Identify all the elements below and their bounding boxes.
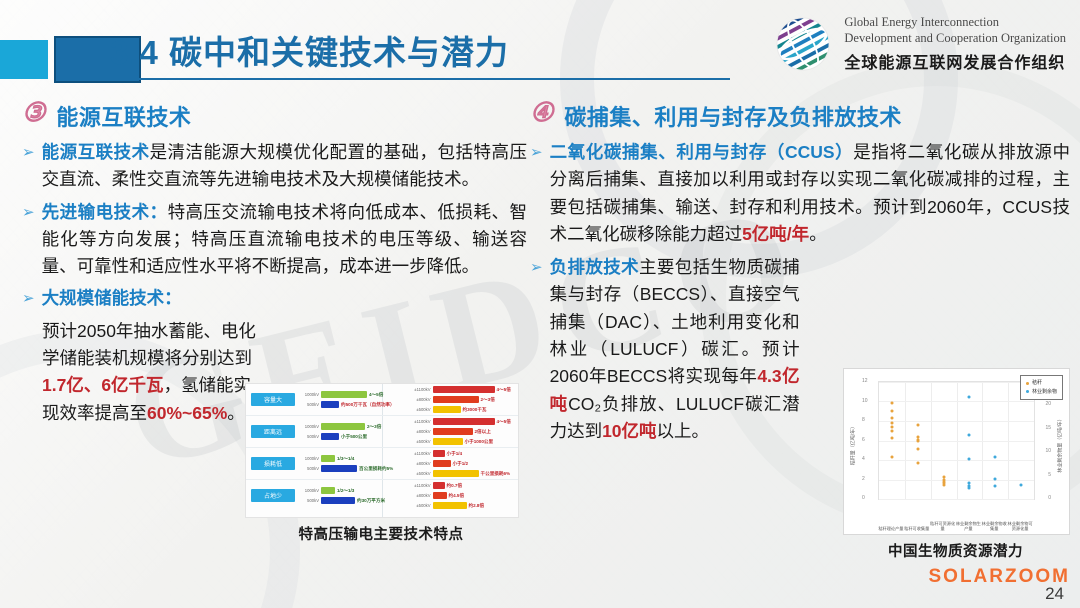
chart-y2-axis-label: 林业剩余物量（亿吨/年） [1057,410,1064,480]
chart-y-tick: 0 [862,495,865,501]
uhv-bar [321,401,339,408]
uhv-metric-line: ±800kV约4.5倍 [411,492,519,499]
logo-en-line1: Global Energy Interconnection [844,15,1066,31]
uhv-value-label: 千公里损耗6% [481,471,511,477]
slide-canvas: GEIDCO 3.4 碳中和关键技术与潜力 [0,0,1080,608]
chart-y-tick: 12 [862,378,868,384]
uhv-value-label: 约30万平方米 [357,498,385,504]
chart-legend-item: 秸秆 [1026,379,1057,388]
chart-x-label: 秸秆可收集量 [904,527,930,532]
chart-y-tick: 6 [862,437,865,443]
chart-data-point [890,402,893,405]
chart-data-point [890,410,893,413]
section-number-3: ③ [22,100,45,126]
uhv-voltage-label: ±800kV [411,397,431,402]
uhv-metric-line: ±1100kV约0.7倍 [411,482,519,489]
chart-gridline-horizontal [879,382,1034,383]
chart-gridline-horizontal [879,499,1034,500]
uhv-value-label: 小于1000公里 [465,439,494,445]
storage-detail-text: 预计2050年抽水蓄能、电化学储能装机规模将分别达到1.7亿、6亿千瓦，氢储能实… [42,318,257,427]
uhv-voltage-label: ±1100kV [411,387,431,392]
chart-data-point [890,421,893,424]
uhv-metric-line: ±800kV小于1/2 [411,460,519,467]
uhv-rows-container: 容量大1000kV4～5倍500kV约500万千瓦（自然功率）±1100kV4～… [246,384,518,511]
uhv-metric-line: ±500kV约2.8倍 [411,502,519,509]
uhv-value-label: 4～5倍 [497,419,511,425]
uhv-metric-line: ±1100kV4～5倍 [411,418,519,425]
uhv-bar [433,438,463,445]
legend-swatch-icon [1026,382,1029,385]
chart-data-point [916,440,919,443]
uhv-metric-line: ±500kV小于1000公里 [411,438,519,445]
uhv-voltage-label: 500kV [299,498,319,503]
uhv-row: 损耗低1000kV1/3～1/4500kV百公里损耗约5%±1100kV小于1/… [246,448,518,480]
uhv-bar [321,455,335,462]
chart-data-point [1020,484,1023,487]
uhv-row-label: 距离远 [251,425,295,438]
uhv-metric-line: 500kV百公里损耗约5% [299,465,407,472]
uhv-value-label: 小于1/4 [447,451,463,457]
uhv-metric-line: 500kV约500万千瓦（自然功率） [299,401,407,408]
chart-data-point [916,461,919,464]
uhv-metric-line: 1000kV2～3倍 [299,423,407,430]
chart-gridline-horizontal [879,480,1034,481]
list-item: ➢ 二氧化碳捕集、利用与封存（CCUS）是指将二氧化碳从排放源中分离后捕集、直接… [530,139,1070,248]
uhv-voltage-label: 500kV [299,434,319,439]
globe-logo-icon [772,13,834,75]
uhv-row: 占地少1000kV1/2～1/3500kV约30万平方米±1100kV约0.7倍… [246,480,518,511]
uhv-voltage-label: 500kV [299,466,319,471]
uhv-half-right: ±1100kV4～5倍±800kV2倍以上±500kV小于1000公里 [407,418,519,445]
uhv-bar [433,460,451,467]
uhv-half-left: 1000kV1/3～1/4500kV百公里损耗约5% [295,455,407,472]
list-item: ➢ 先进输电技术：特高压交流输电技术将向低成本、低损耗、智能化等方向发展；特高压… [22,199,527,281]
bullet-arrow-icon: ➢ [22,285,35,312]
uhv-value-label: 约0.7倍 [447,483,463,489]
uhv-voltage-label: ±500kV [411,407,431,412]
chart-data-point [890,417,893,420]
uhv-value-label: 2～3倍 [481,397,495,403]
chart-data-point [890,429,893,432]
uhv-voltage-label: 500kV [299,402,319,407]
uhv-voltage-label: ±500kV [411,439,431,444]
uhv-figure: 容量大1000kV4～5倍500kV约500万千瓦（自然功率）±1100kV4～… [245,383,517,544]
uhv-bar [321,497,355,504]
uhv-bar [321,487,335,494]
bullet-text: 大规模储能技术： [42,285,182,312]
logo-en-line2: Development and Cooperation Organization [844,31,1066,47]
uhv-metric-line: ±1100kV小于1/4 [411,450,519,457]
page-title: 3.4 碳中和关键技术与潜力 [110,26,509,74]
biomass-figure: 秸秆量（亿吨/年） 林业剩余物量（亿吨/年） 024681012 0510152… [843,368,1068,561]
chart-data-point [890,436,893,439]
uhv-metric-line: ±800kV2倍以上 [411,428,519,435]
uhv-metric-line: 500kV小于500公里 [299,433,407,440]
chart-legend-item: 林业剩余物 [1026,388,1057,397]
uhv-metric-line: 500kV约30万平方米 [299,497,407,504]
uhv-value-label: 约3000千瓦 [463,407,487,413]
uhv-value-label: 约4.5倍 [449,493,465,499]
uhv-voltage-label: 1000kV [299,424,319,429]
bullet-text: 先进输电技术：特高压交流输电技术将向低成本、低损耗、智能化等方向发展；特高压直流… [42,199,527,281]
uhv-half-left: 1000kV4～5倍500kV约500万千瓦（自然功率） [295,391,407,408]
uhv-value-label: 1/2～1/3 [337,488,354,494]
uhv-metric-line: ±500kV约3000千瓦 [411,406,519,413]
section-number-4: ④ [530,100,553,126]
uhv-half-left: 1000kV1/2～1/3500kV约30万平方米 [295,487,407,504]
title-underline [105,78,730,80]
bullet-arrow-icon: ➢ [530,254,543,445]
uhv-bar [321,423,365,430]
uhv-row-label: 占地少 [251,489,295,502]
uhv-value-label: 1/3～1/4 [337,456,354,462]
right-section-heading: ④ 碳捕集、利用与封存及负排放技术 [530,100,1070,132]
uhv-voltage-label: 1000kV [299,488,319,493]
uhv-bar [433,482,445,489]
chart-data-point [916,423,919,426]
uhv-voltage-label: ±800kV [411,493,431,498]
uhv-voltage-label: ±1100kV [411,419,431,424]
bullet-text: 能源互联技术是清洁能源大规模优化配置的基础，包括特高压交直流、柔性交直流等先进输… [42,139,527,194]
chart-data-point [916,448,919,451]
left-section-heading: ③ 能源互联技术 [22,100,527,132]
legend-label: 林业剩余物 [1032,388,1057,397]
uhv-value-label: 百公里损耗约5% [359,466,393,472]
left-content-column: ③ 能源互联技术 ➢ 能源互联技术是清洁能源大规模优化配置的基础，包括特高压交直… [22,100,527,427]
chart-y-tick: 4 [862,456,865,462]
chart-y2-tick: 10 [1045,448,1051,454]
chart-gridline-horizontal [879,401,1034,402]
legend-label: 秸秆 [1032,379,1042,388]
uhv-bar [433,428,473,435]
uhv-voltage-label: 1000kV [299,456,319,461]
chart-gridline-horizontal [879,421,1034,422]
bullet-arrow-icon: ➢ [22,199,35,281]
list-item: ➢ 能源互联技术是清洁能源大规模优化配置的基础，包括特高压交直流、柔性交直流等先… [22,139,527,194]
uhv-voltage-label: ±1100kV [411,483,431,488]
uhv-row-label: 损耗低 [251,457,295,470]
chart-x-label: 秸秆可资源化量 [930,522,956,532]
chart-x-label: 林业剩余物收集量 [981,522,1007,532]
uhv-row-label: 容量大 [251,393,295,406]
uhv-half-left: 1000kV2～3倍500kV小于500公里 [295,423,407,440]
bullet-text: 负排放技术主要包括生物质碳捕集与封存（BECCS）、直接空气捕集（DAC）、土地… [550,254,800,445]
chart-data-point [968,395,971,398]
chart-data-point [994,477,997,480]
list-item: ➢ 大规模储能技术： [22,285,527,312]
uhv-value-label: 4～5倍 [497,387,511,393]
uhv-bar [433,418,495,425]
chart-y2-tick: 20 [1045,401,1051,407]
left-section-title: 能源互联技术 [56,100,191,132]
uhv-voltage-label: ±800kV [411,461,431,466]
uhv-half-right: ±1100kV小于1/4±800kV小于1/2±500kV千公里损耗6% [407,450,519,477]
uhv-figure-caption: 特高压输电主要技术特点 [245,523,517,544]
right-section-title: 碳捕集、利用与封存及负排放技术 [564,100,902,132]
uhv-voltage-label: ±1100kV [411,451,431,456]
chart-y2-tick: 5 [1048,472,1051,478]
uhv-bar [433,406,461,413]
uhv-bar [321,391,367,398]
uhv-bar [321,465,357,472]
biomass-scatter-chart: 秸秆量（亿吨/年） 林业剩余物量（亿吨/年） 024681012 0510152… [843,368,1070,535]
uhv-row: 容量大1000kV4～5倍500kV约500万千瓦（自然功率）±1100kV4～… [246,384,518,416]
chart-gridline-horizontal [879,460,1034,461]
organization-logo: Global Energy Interconnection Developmen… [772,13,1066,75]
uhv-bar [433,470,479,477]
chart-x-label: 林业剩余物可资源化量 [1007,522,1033,532]
uhv-metric-line: 1000kV4～5倍 [299,391,407,398]
uhv-infographic: 容量大1000kV4～5倍500kV约500万千瓦（自然功率）±1100kV4～… [245,383,519,518]
uhv-value-label: 4～5倍 [369,392,383,398]
logo-cn-name: 全球能源互联网发展合作组织 [844,49,1066,73]
chart-y2-tick: 0 [1048,495,1051,501]
uhv-value-label: 约500万千瓦（自然功率） [341,402,395,408]
uhv-metric-line: ±1100kV4～5倍 [411,386,519,393]
uhv-metric-line: 1000kV1/2～1/3 [299,487,407,494]
chart-data-point [994,485,997,488]
page-number: 24 [1045,584,1064,604]
chart-data-point [994,456,997,459]
uhv-value-label: 约2.8倍 [469,503,485,509]
chart-data-point [968,433,971,436]
uhv-value-label: 2～3倍 [367,424,381,430]
uhv-value-label: 小于500公里 [341,434,367,440]
chart-gridline-horizontal [879,441,1034,442]
chart-legend: 秸秆林业剩余物 [1020,375,1063,400]
chart-data-point [890,425,893,428]
chart-data-point [942,484,945,487]
chart-y2-tick: 15 [1045,425,1051,431]
chart-data-point [968,487,971,490]
bullet-text: 二氧化碳捕集、利用与封存（CCUS）是指将二氧化碳从排放源中分离后捕集、直接加以… [550,139,1070,248]
chart-data-point [942,475,945,478]
header-accent-block-cyan [0,40,48,79]
chart-data-point [968,458,971,461]
uhv-voltage-label: ±500kV [411,503,431,508]
uhv-row: 距离远1000kV2～3倍500kV小于500公里±1100kV4～5倍±800… [246,416,518,448]
chart-y-axis-label: 秸秆量（亿吨/年） [850,410,857,480]
uhv-value-label: 2倍以上 [475,429,491,435]
uhv-metric-line: 1000kV1/3～1/4 [299,455,407,462]
uhv-voltage-label: ±800kV [411,429,431,434]
chart-y-tick: 10 [862,398,868,404]
uhv-bar [433,492,447,499]
uhv-half-right: ±1100kV约0.7倍±800kV约4.5倍±500kV约2.8倍 [407,482,519,509]
legend-swatch-icon [1026,390,1029,393]
bullet-arrow-icon: ➢ [530,139,543,248]
uhv-half-right: ±1100kV4～5倍±800kV2～3倍±500kV约3000千瓦 [407,386,519,413]
chart-data-point [890,456,893,459]
chart-plot-area [878,381,1035,500]
uhv-metric-line: ±500kV千公里损耗6% [411,470,519,477]
uhv-bar [433,450,445,457]
uhv-value-label: 小于1/2 [453,461,469,467]
biomass-figure-caption: 中国生物质资源潜力 [843,540,1068,561]
chart-x-label: 林业剩余物生产量 [956,522,982,532]
uhv-bar [433,396,479,403]
uhv-bar [321,433,339,440]
chart-y-tick: 2 [862,476,865,482]
uhv-voltage-label: 1000kV [299,392,319,397]
uhv-bar [433,386,495,393]
uhv-metric-line: ±800kV2～3倍 [411,396,519,403]
chart-y-tick: 8 [862,417,865,423]
uhv-voltage-label: ±500kV [411,471,431,476]
uhv-bar [433,502,467,509]
bullet-arrow-icon: ➢ [22,139,35,194]
chart-x-label: 秸秆理论产量 [878,527,904,532]
